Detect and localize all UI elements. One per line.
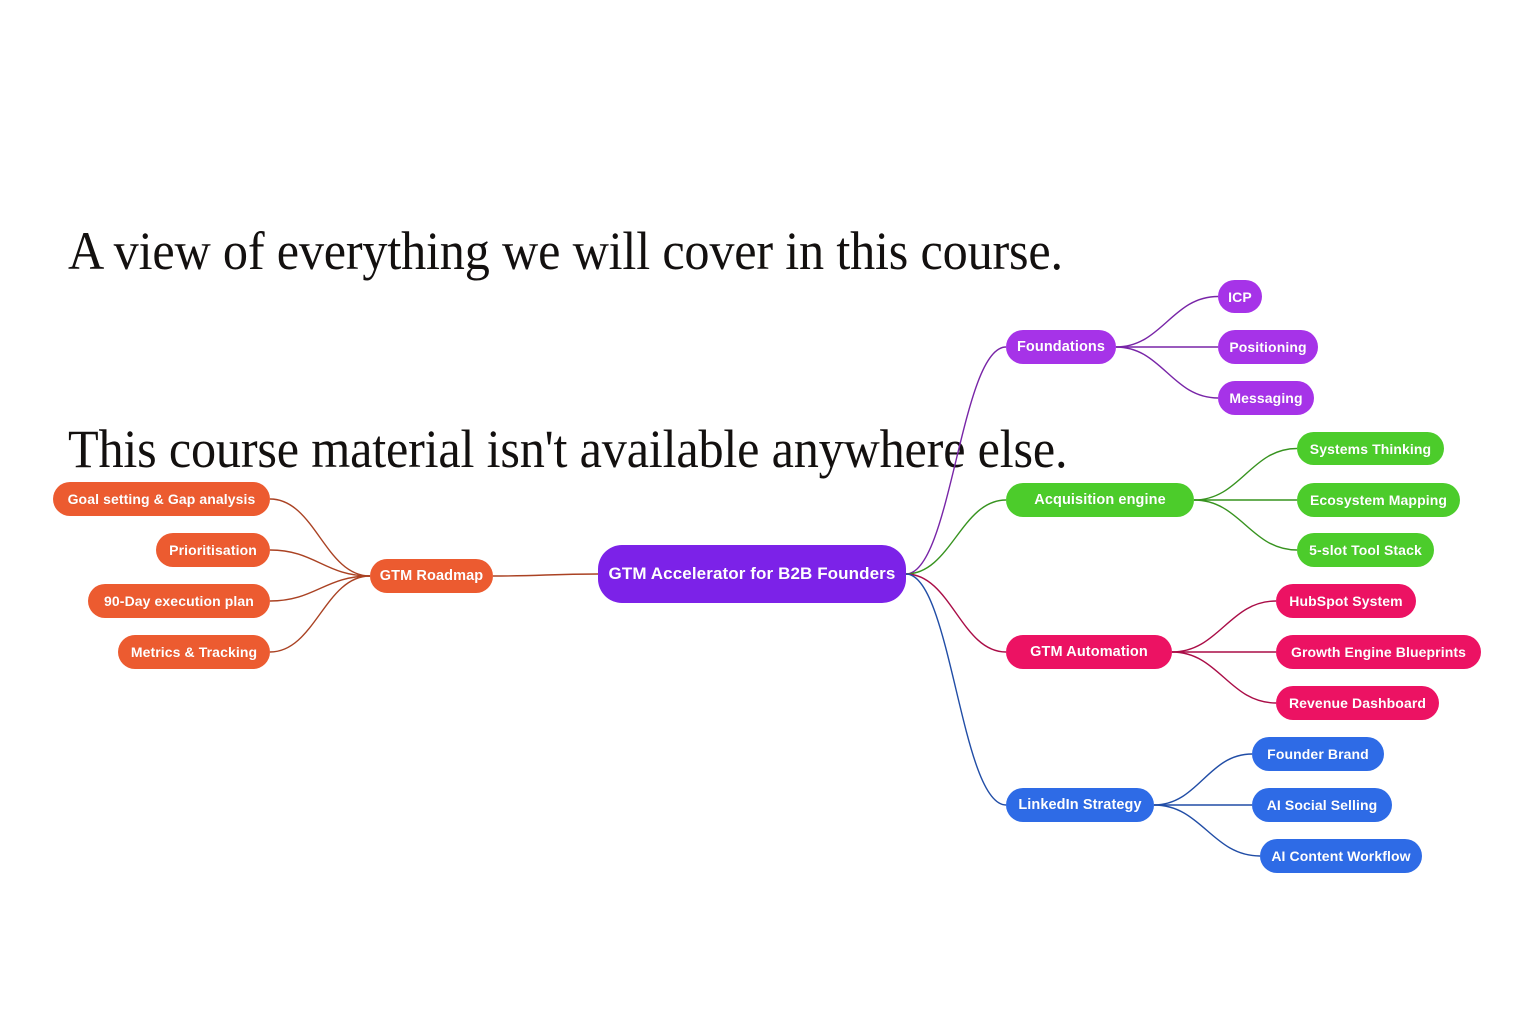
branch-node-acquisition-engine[interactable]: Acquisition engine bbox=[1006, 483, 1194, 517]
leaf-node-growth-engine-blueprints[interactable]: Growth Engine Blueprints bbox=[1276, 635, 1481, 669]
branch-node-gtm-automation[interactable]: GTM Automation bbox=[1006, 635, 1172, 669]
leaf-node-ai-content-workflow[interactable]: AI Content Workflow bbox=[1260, 839, 1422, 873]
node-label: Founder Brand bbox=[1267, 746, 1369, 762]
node-label: GTM Roadmap bbox=[380, 568, 483, 584]
node-label: Prioritisation bbox=[169, 542, 257, 558]
leaf-node-ecosystem-mapping[interactable]: Ecosystem Mapping bbox=[1297, 483, 1460, 517]
root-node-gtm-accelerator-for-b2b-founders[interactable]: GTM Accelerator for B2B Founders bbox=[598, 545, 906, 603]
node-label: 90-Day execution plan bbox=[104, 593, 254, 609]
leaf-node-systems-thinking[interactable]: Systems Thinking bbox=[1297, 432, 1444, 465]
node-label: Goal setting & Gap analysis bbox=[68, 491, 256, 507]
node-label: Acquisition engine bbox=[1034, 492, 1166, 508]
node-label: 5-slot Tool Stack bbox=[1309, 542, 1422, 558]
branch-node-gtm-roadmap[interactable]: GTM Roadmap bbox=[370, 559, 493, 593]
leaf-node-ai-social-selling[interactable]: AI Social Selling bbox=[1252, 788, 1392, 822]
node-label: Systems Thinking bbox=[1310, 441, 1431, 457]
node-label: ICP bbox=[1228, 289, 1252, 305]
leaf-node-5-slot-tool-stack[interactable]: 5-slot Tool Stack bbox=[1297, 533, 1434, 567]
node-label: AI Social Selling bbox=[1267, 797, 1378, 813]
node-label: GTM Accelerator for B2B Founders bbox=[609, 564, 896, 584]
branch-node-linkedin-strategy[interactable]: LinkedIn Strategy bbox=[1006, 788, 1154, 822]
mindmap-connectors bbox=[0, 0, 1536, 1035]
node-label: Revenue Dashboard bbox=[1289, 695, 1426, 711]
leaf-node-messaging[interactable]: Messaging bbox=[1218, 381, 1314, 415]
node-label: LinkedIn Strategy bbox=[1018, 797, 1141, 813]
leaf-node-revenue-dashboard[interactable]: Revenue Dashboard bbox=[1276, 686, 1439, 720]
branch-node-foundations[interactable]: Foundations bbox=[1006, 330, 1116, 364]
leaf-node-goal-setting-gap-analysis[interactable]: Goal setting & Gap analysis bbox=[53, 482, 270, 516]
node-label: HubSpot System bbox=[1289, 593, 1402, 609]
leaf-node-90-day-execution-plan[interactable]: 90-Day execution plan bbox=[88, 584, 270, 618]
leaf-node-positioning[interactable]: Positioning bbox=[1218, 330, 1318, 364]
node-label: AI Content Workflow bbox=[1271, 848, 1410, 864]
leaf-node-founder-brand[interactable]: Founder Brand bbox=[1252, 737, 1384, 771]
node-label: Metrics & Tracking bbox=[131, 644, 257, 660]
node-label: GTM Automation bbox=[1030, 644, 1148, 660]
leaf-node-icp[interactable]: ICP bbox=[1218, 280, 1262, 313]
leaf-node-prioritisation[interactable]: Prioritisation bbox=[156, 533, 270, 567]
mindmap-diagram: GTM Accelerator for B2B FoundersGTM Road… bbox=[0, 0, 1536, 1035]
node-label: Growth Engine Blueprints bbox=[1291, 644, 1466, 660]
node-label: Ecosystem Mapping bbox=[1310, 492, 1447, 508]
node-label: Positioning bbox=[1229, 339, 1306, 355]
leaf-node-hubspot-system[interactable]: HubSpot System bbox=[1276, 584, 1416, 618]
node-label: Foundations bbox=[1017, 339, 1105, 355]
node-label: Messaging bbox=[1229, 390, 1302, 406]
leaf-node-metrics-tracking[interactable]: Metrics & Tracking bbox=[118, 635, 270, 669]
